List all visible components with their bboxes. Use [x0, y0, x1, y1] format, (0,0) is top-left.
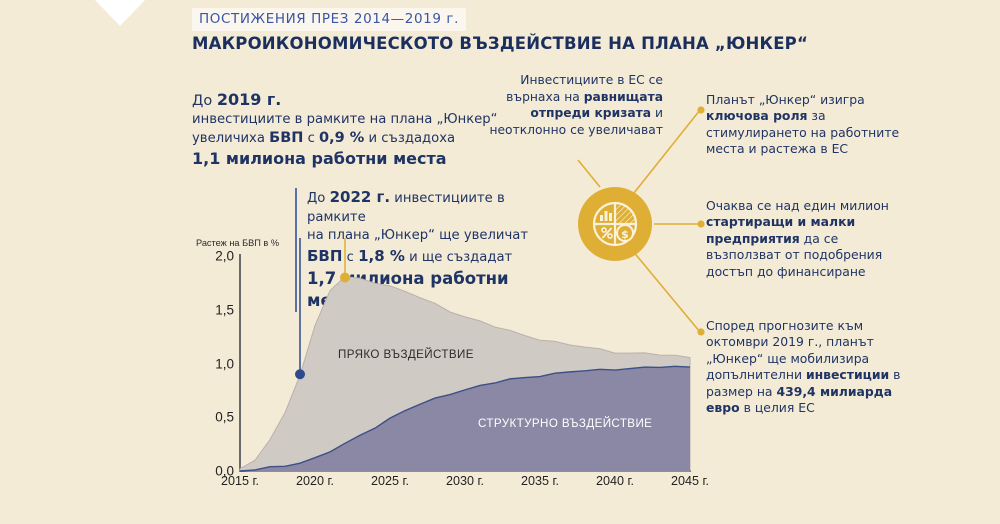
- text-span: в целия ЕС: [740, 400, 815, 415]
- callout-key-role: Планът „Юнкер“ изигра ключова роля за ст…: [706, 92, 906, 158]
- page-title: МАКРОИКОНОМИЧЕСКОТО ВЪЗДЕЙСТВИЕ НА ПЛАНА…: [192, 34, 808, 53]
- achievement-2019-block: До 2019 г. инвестициите в рамките на пла…: [192, 90, 510, 170]
- chart-y-tick: 2,0: [215, 249, 234, 264]
- text-span: с: [303, 131, 319, 146]
- chart-y-tick: 1,0: [215, 356, 234, 371]
- text-line: До 2019 г.: [192, 90, 510, 111]
- text-line: 1,1 милиона работни места: [192, 148, 510, 170]
- chart-area-label-direct: ПРЯКО ВЪЗДЕЙСТВИЕ: [338, 348, 474, 361]
- text-line: До 2022 г. инвестициите в рамките: [307, 188, 567, 227]
- text-span: До: [192, 93, 217, 109]
- connector-dot: [697, 220, 704, 227]
- text-line: увеличиха БВП с 0,9 % и създадоха: [192, 129, 510, 148]
- text-span-bold: 2019 г.: [217, 90, 282, 109]
- callout-sme: Очаква се над един милион стартиращи и м…: [706, 198, 911, 280]
- chart-x-tick: 2040 г.: [596, 474, 634, 488]
- text-span-bold: 2022 г.: [330, 188, 391, 206]
- text-span-bold: ключова роля: [706, 108, 807, 123]
- text-span-bold: инвестиции: [806, 367, 889, 382]
- text-span: Планът „Юнкер“ изигра: [706, 92, 865, 107]
- chart-y-tick: 0,5: [215, 410, 234, 425]
- chart-y-tick: 1,5: [215, 302, 234, 317]
- text-span-bold: БВП: [269, 130, 303, 146]
- chart-x-tick: 2025 г.: [371, 474, 409, 488]
- text-span: Очаква се над един милион: [706, 198, 889, 213]
- marker-2022: [340, 273, 350, 283]
- kicker-badge: ПОСТИЖЕНИЯ ПРЕЗ 2014—2019 г.: [192, 8, 466, 31]
- chart-x-tick: 2020 г.: [296, 474, 334, 488]
- callout-investment-total: Според прогнозите към октомври 2019 г., …: [706, 318, 911, 416]
- text-span: и създадоха: [364, 131, 455, 146]
- text-span-bold: 0,9 %: [319, 130, 364, 146]
- infographic-canvas: ПОСТИЖЕНИЯ ПРЕЗ 2014—2019 г. МАКРОИКОНОМ…: [0, 0, 1000, 524]
- chart-x-tick: 2015 г.: [221, 474, 259, 488]
- chart-x-tick: 2030 г.: [446, 474, 484, 488]
- chart-plot-area: [240, 256, 690, 471]
- text-span: До: [307, 191, 330, 206]
- corner-chevron-icon: [95, 0, 145, 26]
- chart-area-label-structural: СТРУКТУРНО ВЪЗДЕЙСТВИЕ: [478, 417, 652, 430]
- connector-dot: [697, 106, 704, 113]
- text-line: инвестициите в рамките на плана „Юнкер“: [192, 111, 510, 129]
- marker-2019: [295, 369, 305, 379]
- chart-x-tick: 2035 г.: [521, 474, 559, 488]
- eu-investments-block: Инвестициите в ЕС се върнаха на равнищат…: [478, 72, 663, 138]
- text-span: увеличиха: [192, 131, 269, 146]
- chart-y-ticks: 2,01,51,00,50,0: [190, 238, 234, 470]
- gdp-growth-chart: Растеж на БВП в % 2,01,51,00,50,0 2015 г…: [190, 238, 710, 498]
- chart-x-tick: 2045 г.: [671, 474, 709, 488]
